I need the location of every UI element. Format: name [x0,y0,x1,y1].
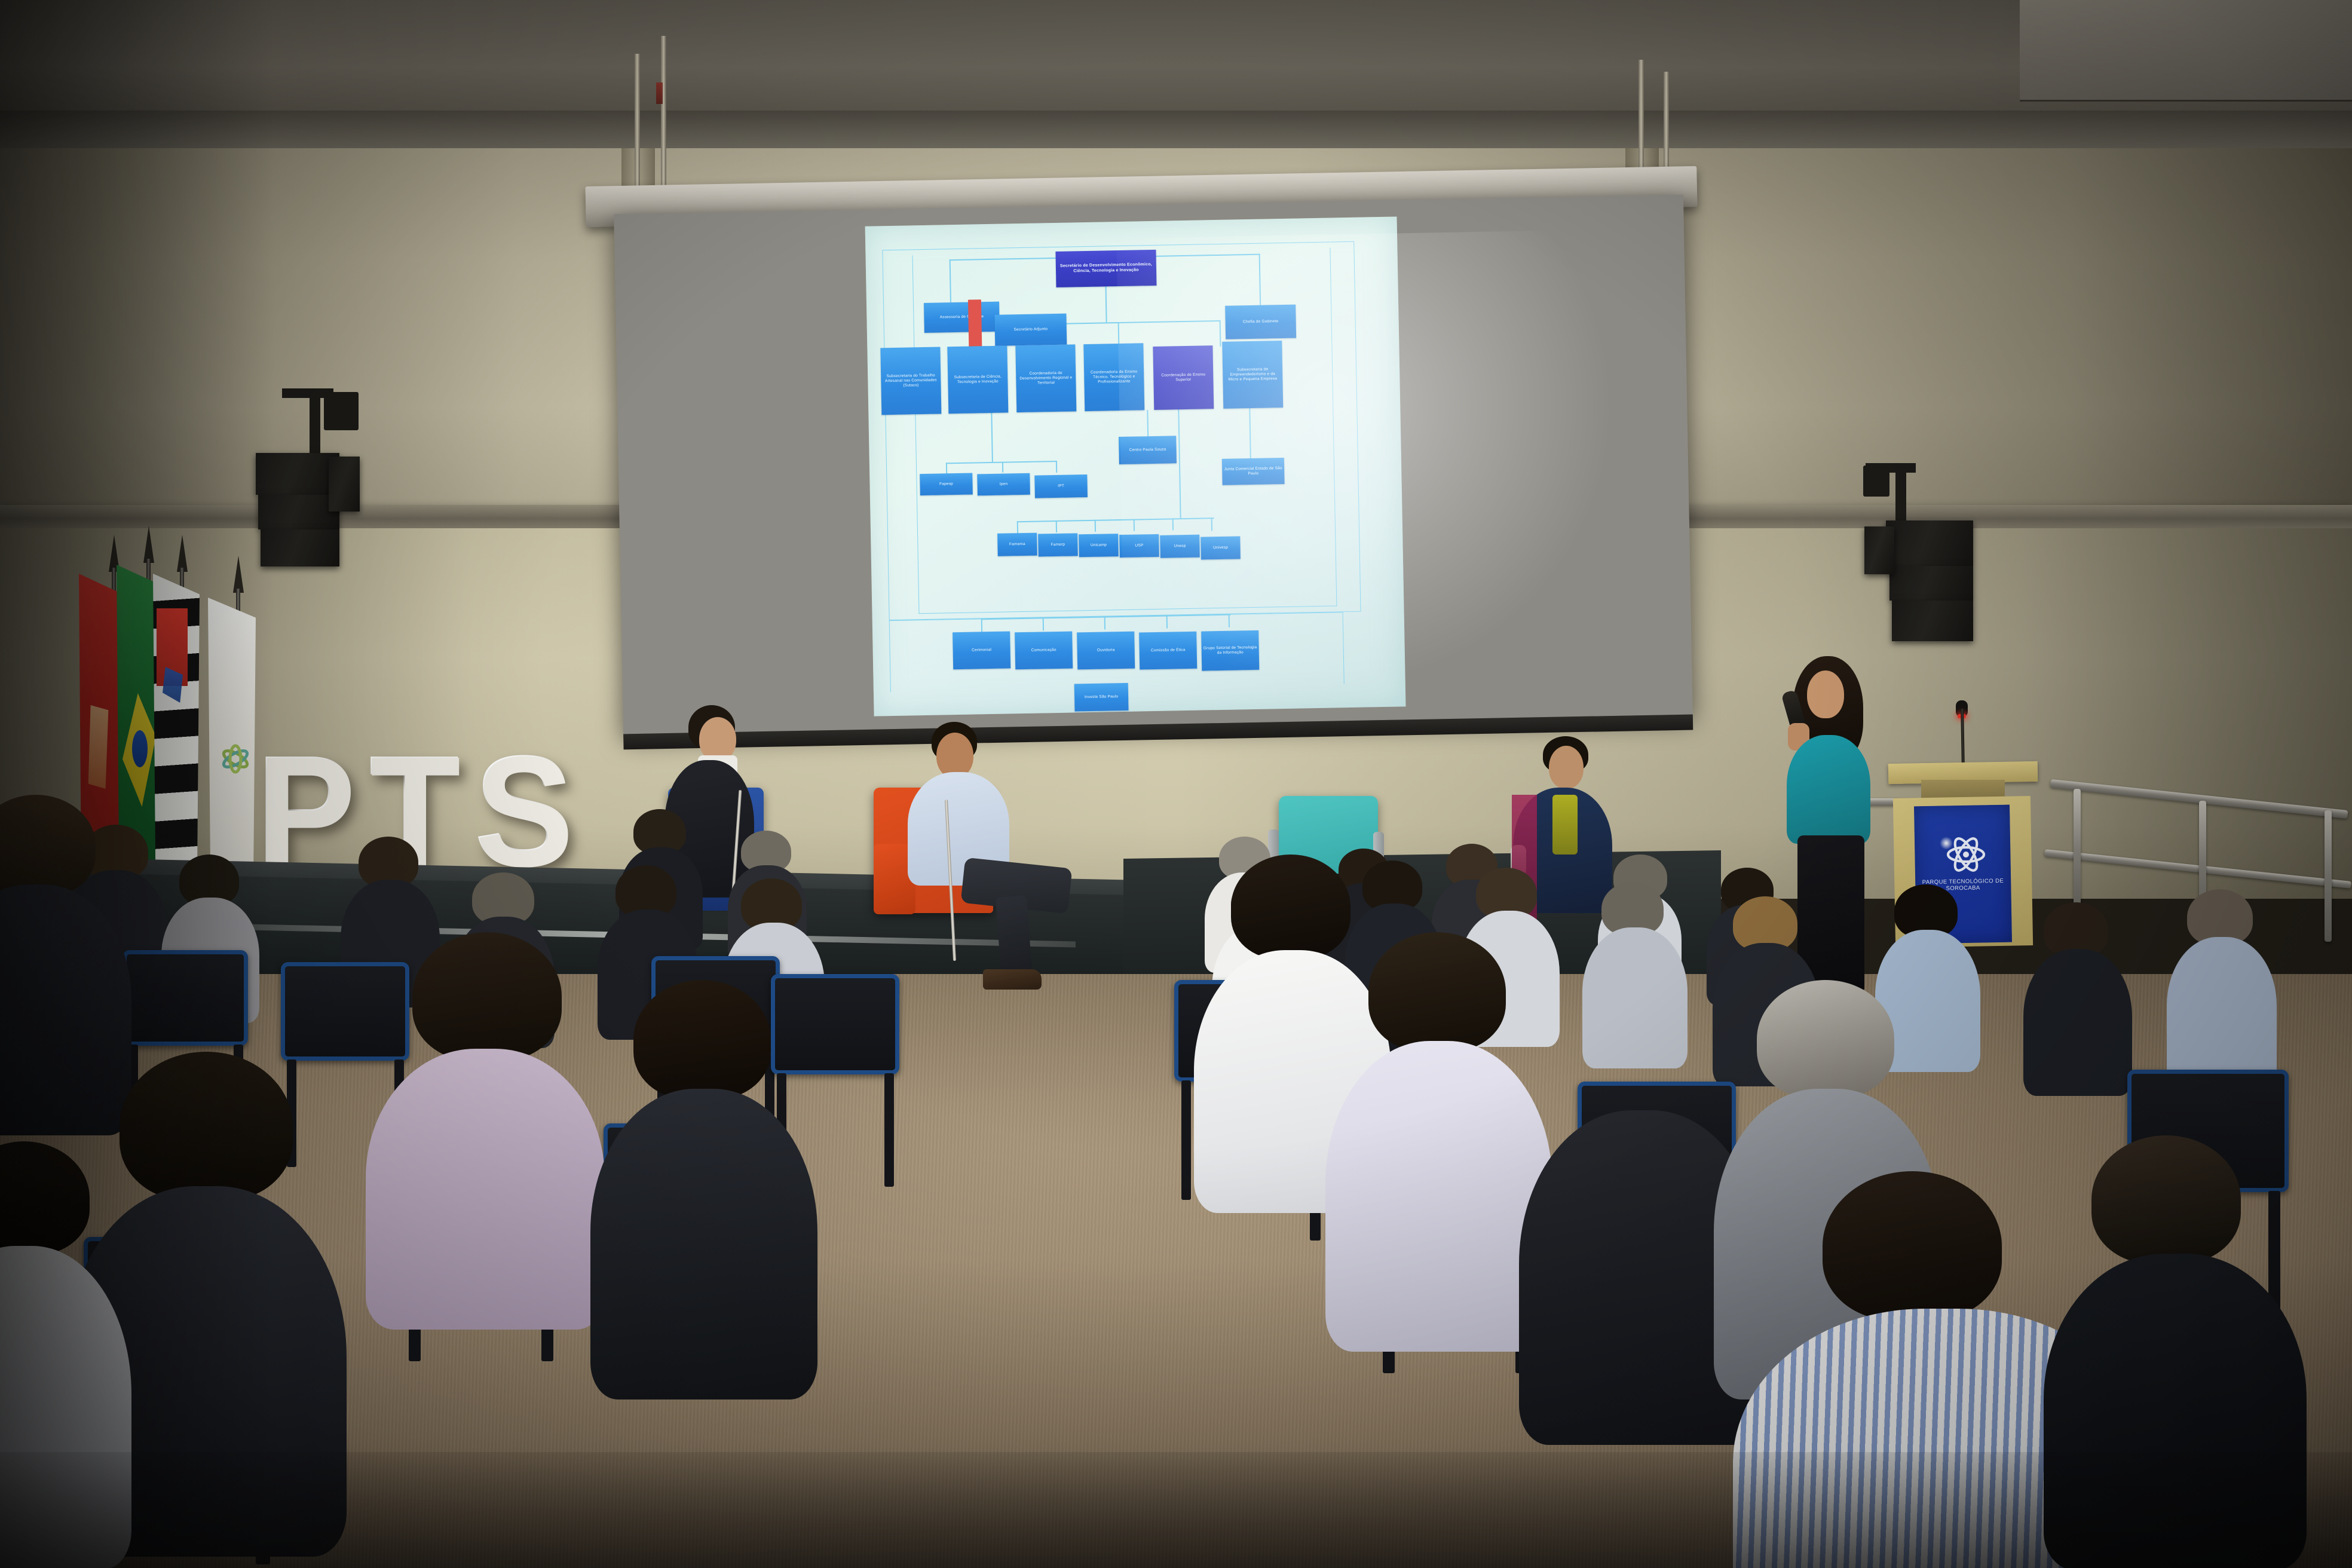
audience-hair [633,980,771,1100]
brazil-flag-globe [132,730,148,767]
emergency-indicator [656,82,663,104]
org-node-subsec-empreendedorismo: Subsecretaria de Empreendedorismo e da M… [1222,341,1283,409]
org-node-chefia: Chefia de Gabinete [1225,305,1296,339]
auditorium-scene: Secretário de Desenvolvimento Econômico,… [0,0,2352,1568]
link-fapesp-b [1002,462,1003,473]
red-arrow-shaft [968,299,982,350]
org-node-famema: Famema [997,533,1037,556]
audience-hair [120,1052,293,1201]
audience-hair [1823,1171,2002,1321]
org-node-ipen: Ipen [977,473,1030,496]
org-node-ouvidoria: Ouvidoria [1077,632,1135,670]
org-node-secretario-adjunto: Secretário Adjunto [994,314,1067,346]
audience-torso [2023,949,2132,1096]
panelist-seated-shin [996,895,1033,981]
link-univ-b [1056,520,1057,532]
stair-railing-post-3 [2325,810,2332,942]
org-node-gsti: Grupo Setorial de Tecnologia da Informaç… [1201,630,1259,671]
podium-specular-highlight [1940,837,1953,850]
org-node-junta-comercial: Junta Comercial Estado de São Paulo [1222,458,1285,485]
org-node-unicamp: Unicamp [1079,534,1119,557]
org-node-unesp: Unesp [1160,535,1200,558]
flag-spear-3 [177,535,188,572]
link-univ-a [1017,521,1018,533]
stair-railing-post-1 [2074,789,2081,908]
pts-flag-atom-icon [220,717,251,801]
org-node-subsec-cti: Subsecretaria de Ciência, Tecnologia e I… [947,345,1008,414]
pts-flag-logo [220,717,251,801]
projection-screen: Secretário de Desenvolvimento Econômico,… [614,195,1693,734]
org-node-assessoria: Assessoria de Gabinete [924,302,1000,333]
flag-spear-4 [233,556,244,593]
link-univ-e [1172,518,1174,530]
panelist-right-head [1549,746,1584,789]
org-node-sutaco: Subsecretaria do Trabalho Artesanal nas … [880,347,941,415]
org-node-ipt: IPT [1034,474,1088,498]
org-node-investe-sao-paulo: Investe São Paulo [1074,683,1129,712]
audience-torso [590,1089,817,1399]
mc-blouse [1787,735,1870,844]
org-node-fapesp: Fapesp [920,473,973,496]
link-staff-c [1104,617,1105,630]
panelist-left-head [699,717,736,761]
panelist-seated-head [936,733,973,778]
org-node-cerimonial: Cerimonial [953,631,1010,669]
ceiling-tile [2020,0,2352,102]
audience-torso [1325,1041,1552,1352]
foreground-shadow-band [0,1452,2352,1568]
org-node-centro-paula-souza: Centro Paula Souza [1119,436,1177,464]
audience-hair [1368,932,1506,1052]
org-node-famerp: Famerp [1038,533,1078,556]
mc-head [1807,670,1844,718]
panelist-seated-shoe [983,969,1042,990]
link-fapesp-a [946,463,947,473]
audience-hair [412,932,562,1061]
audience-hair [2091,1135,2241,1264]
org-node-univesp: Univesp [1200,536,1241,559]
org-node-comunicacao: Comunicação [1015,632,1073,670]
audience-torso [366,1049,605,1330]
org-node-usp: USP [1119,534,1159,558]
org-node-coord-regional: Coordenadoria de Desenvolvimento Regiona… [1015,344,1076,412]
link-staff-e [1229,614,1230,627]
link-staff-d [1166,615,1168,629]
audience-hair [1231,855,1350,959]
audience-hair [1757,980,1894,1098]
flag-spear-2 [143,526,154,563]
link-univ-d [1134,519,1135,531]
link-univ-c [1095,520,1096,532]
org-node-coord-tecnica: Coordenadoria de Ensino Técnico, Tecnoló… [1083,343,1144,411]
audience-hair [1566,992,1715,1120]
org-node-root: Secretário de Desenvolvimento Econômico,… [1055,250,1156,287]
link-fapesp-c [1056,461,1057,473]
org-chart: Secretário de Desenvolvimento Econômico,… [865,216,1406,716]
projection-screen-surface: Secretário de Desenvolvimento Econômico,… [865,216,1406,716]
org-node-coord-ensino-superior: Coordenação de Ensino Superior [1153,345,1214,410]
link-staff-a [981,618,982,632]
link-staff-b [1043,617,1044,630]
link-univ-f [1211,517,1212,531]
panelist-right-hoodie-trim [1552,795,1578,855]
audience-torso [2167,937,2277,1086]
org-node-comissao-etica: Comissão de Ética [1139,632,1197,670]
